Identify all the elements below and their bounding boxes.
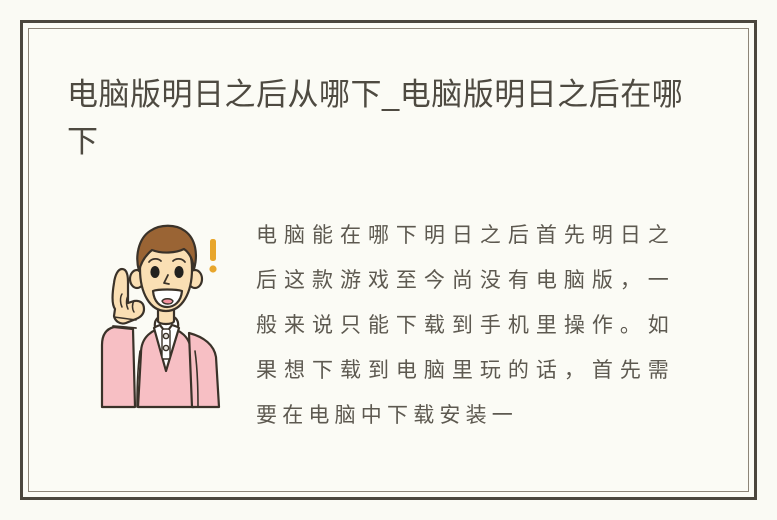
page-title: 电脑版明日之后从哪下_电脑版明日之后在哪下 xyxy=(67,71,687,165)
right-eye xyxy=(174,266,183,278)
article-body-text: 电脑能在哪下明日之后首先明日之后这款游戏至今尚没有电脑版，一般来说只能下载到手机… xyxy=(256,213,674,438)
man-pointing-up-illustration xyxy=(86,217,246,417)
shirt-button-top xyxy=(163,333,168,338)
exclamation-dot xyxy=(209,265,216,272)
left-eye xyxy=(150,266,159,278)
right-sleeve xyxy=(189,333,219,407)
left-sleeve xyxy=(102,327,135,407)
article-body: 电脑能在哪下明日之后首先明日之后这款游戏至今尚没有电脑版，一般来说只能下载到手机… xyxy=(29,197,748,457)
article-card-inner: 电脑版明日之后从哪下_电脑版明日之后在哪下 xyxy=(28,28,749,492)
shirt-button-bottom xyxy=(163,345,168,350)
exclamation-stem xyxy=(210,239,216,261)
tongue xyxy=(162,299,173,304)
article-card: 电脑版明日之后从哪下_电脑版明日之后在哪下 xyxy=(20,20,757,500)
exclamation-icon xyxy=(209,239,216,273)
